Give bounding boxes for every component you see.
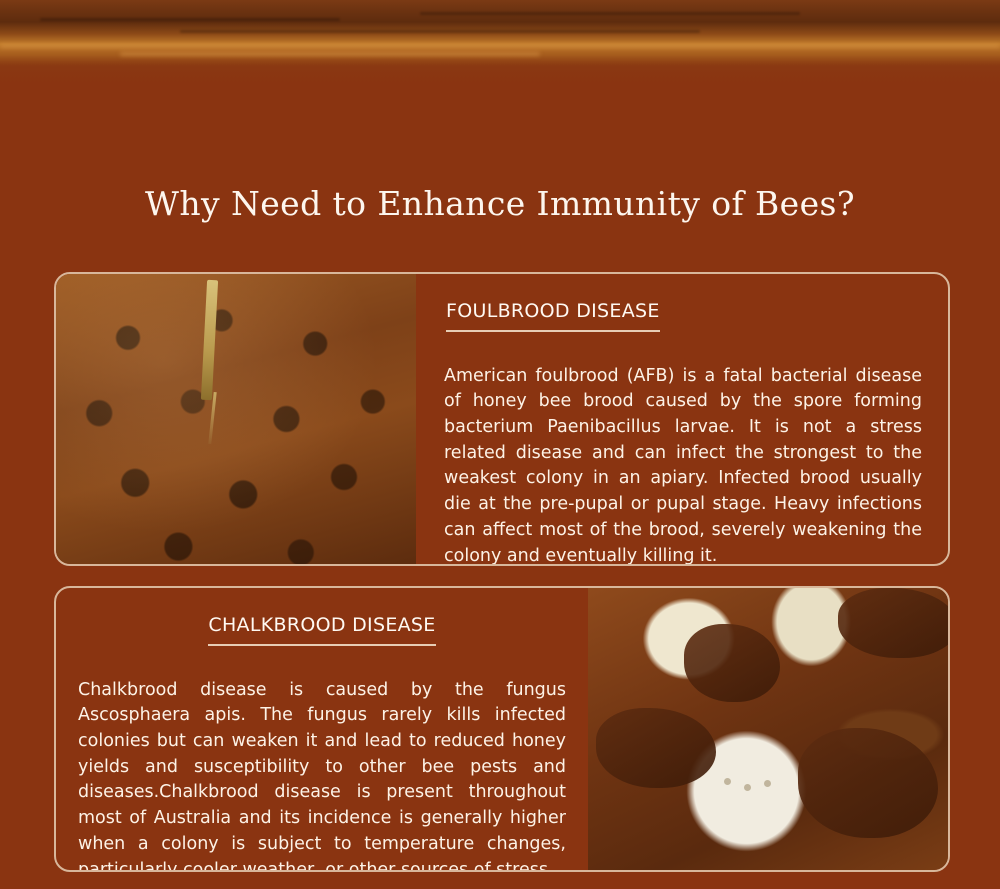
banner-streak xyxy=(180,30,700,33)
banner-highlight xyxy=(0,44,1000,48)
chalkbrood-photo xyxy=(588,588,948,870)
photo-sheen xyxy=(56,274,416,564)
banner-streak xyxy=(420,12,800,15)
banner-highlight xyxy=(120,52,540,56)
comb-flake xyxy=(838,588,948,658)
larva-spiracle-dot xyxy=(724,778,731,785)
top-banner-image xyxy=(0,0,1000,96)
card-heading: CHALKBROOD DISEASE xyxy=(208,614,435,646)
comb-flake xyxy=(596,708,716,788)
foulbrood-text: FOULBROOD DISEASE American foulbrood (AF… xyxy=(416,274,948,564)
brood-comb-image xyxy=(56,274,416,564)
card-chalkbrood: CHALKBROOD DISEASE Chalkbrood disease is… xyxy=(54,586,950,872)
banner-streak xyxy=(40,18,340,21)
page-title: Why Need to Enhance Immunity of Bees? xyxy=(0,184,1000,223)
card-body: Chalkbrood disease is caused by the fung… xyxy=(78,678,566,873)
larva-spiracle-dot xyxy=(764,780,771,787)
foulbrood-photo xyxy=(56,274,416,564)
foulbrood-heading-row: FOULBROOD DISEASE xyxy=(444,300,922,346)
chalkbrood-heading-row: CHALKBROOD DISEASE xyxy=(78,614,566,660)
larva-spiracle-dot xyxy=(744,784,751,791)
chalkbrood-larvae-image xyxy=(588,588,948,870)
chalkbrood-text: CHALKBROOD DISEASE Chalkbrood disease is… xyxy=(56,588,588,870)
card-heading: FOULBROOD DISEASE xyxy=(446,300,660,332)
card-body: American foulbrood (AFB) is a fatal bact… xyxy=(444,364,922,567)
card-foulbrood: FOULBROOD DISEASE American foulbrood (AF… xyxy=(54,272,950,566)
comb-flake xyxy=(798,728,938,838)
comb-flake xyxy=(684,624,780,702)
